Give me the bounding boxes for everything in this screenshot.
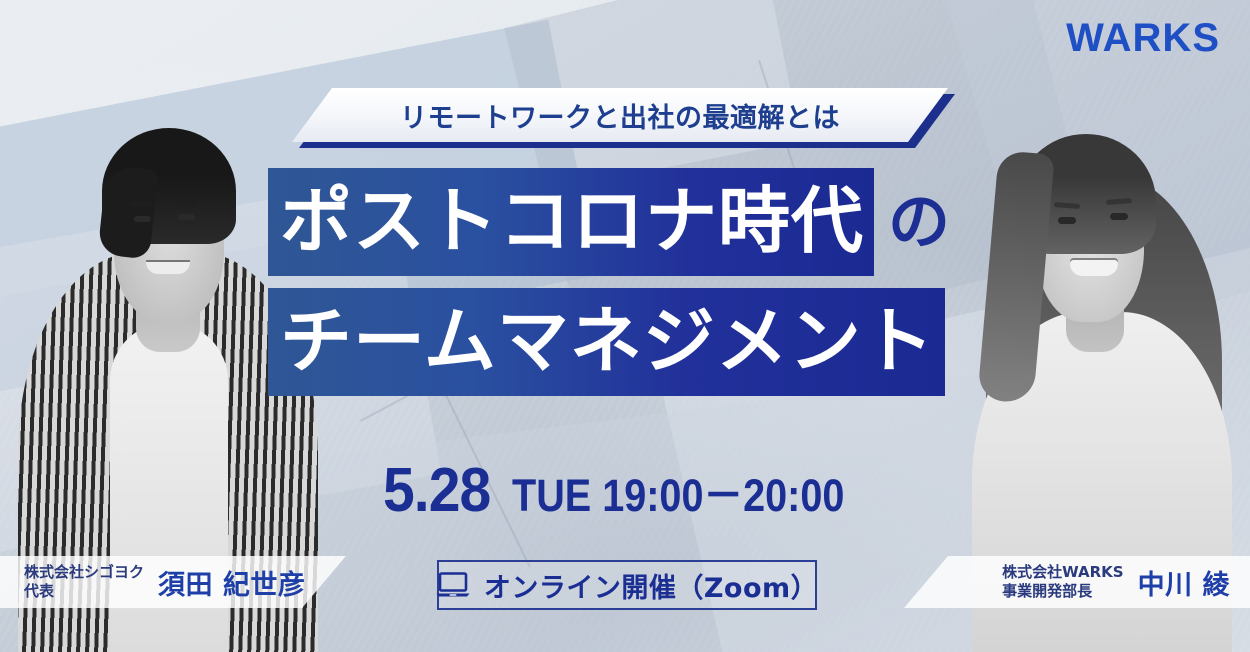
right-speaker-org-line1: 株式会社WARKS [1002,563,1123,581]
title-line-2-block: チームマネジメント [268,288,945,396]
left-speaker-eye-left [134,216,151,222]
subtitle-ribbon-face: リモートワークと出社の最適解とは [292,88,948,142]
right-speaker-eye-left [1058,217,1076,224]
laptop-icon [436,572,470,598]
title-line-1: ポストコロナ時代 の [268,168,950,276]
event-date: 5.28 [383,455,490,526]
right-speaker-name: 中川 綾 [1138,563,1230,602]
speaker-plate-right: 株式会社WARKS 事業開発部長 中川 綾 [904,556,1250,608]
title-line-2: チームマネジメント [268,288,945,396]
left-speaker-org: 株式会社シゴヨク 代表 [24,563,144,601]
online-venue-badge[interactable]: オンライン開催（Zoom） [437,560,817,610]
left-speaker-name: 須田 紀世彦 [158,563,305,602]
left-speaker-org-line1: 株式会社シゴヨク [24,563,144,581]
warks-logo: WARKS [1066,16,1220,61]
online-venue-label: オンライン開催（Zoom） [484,566,818,605]
event-time: TUE 19:00－20:00 [512,459,844,524]
subtitle-ribbon: リモートワークと出社の最適解とは [292,88,948,142]
title-line-1-suffix: の [888,191,950,253]
webinar-banner: WARKS リモートワークと出社の最適解とは ポストコロナ時代 の チームマネジ… [0,0,1250,652]
right-speaker-mouth [1070,260,1118,276]
left-speaker-mouth [146,262,190,274]
speaker-plate-left: 株式会社シゴヨク 代表 須田 紀世彦 [0,556,346,608]
subtitle-text: リモートワークと出社の最適解とは [400,96,840,135]
left-speaker-eye-right [178,214,195,220]
right-speaker-org-line2: 事業開発部長 [1002,582,1092,600]
schedule-line: 5.28 TUE 19:00－20:00 [383,455,889,526]
right-speaker-org: 株式会社WARKS 事業開発部長 [1002,563,1123,601]
title-line-1-block: ポストコロナ時代 [268,168,874,276]
right-speaker-eye-right [1110,213,1128,220]
left-speaker-org-line2: 代表 [24,582,54,600]
